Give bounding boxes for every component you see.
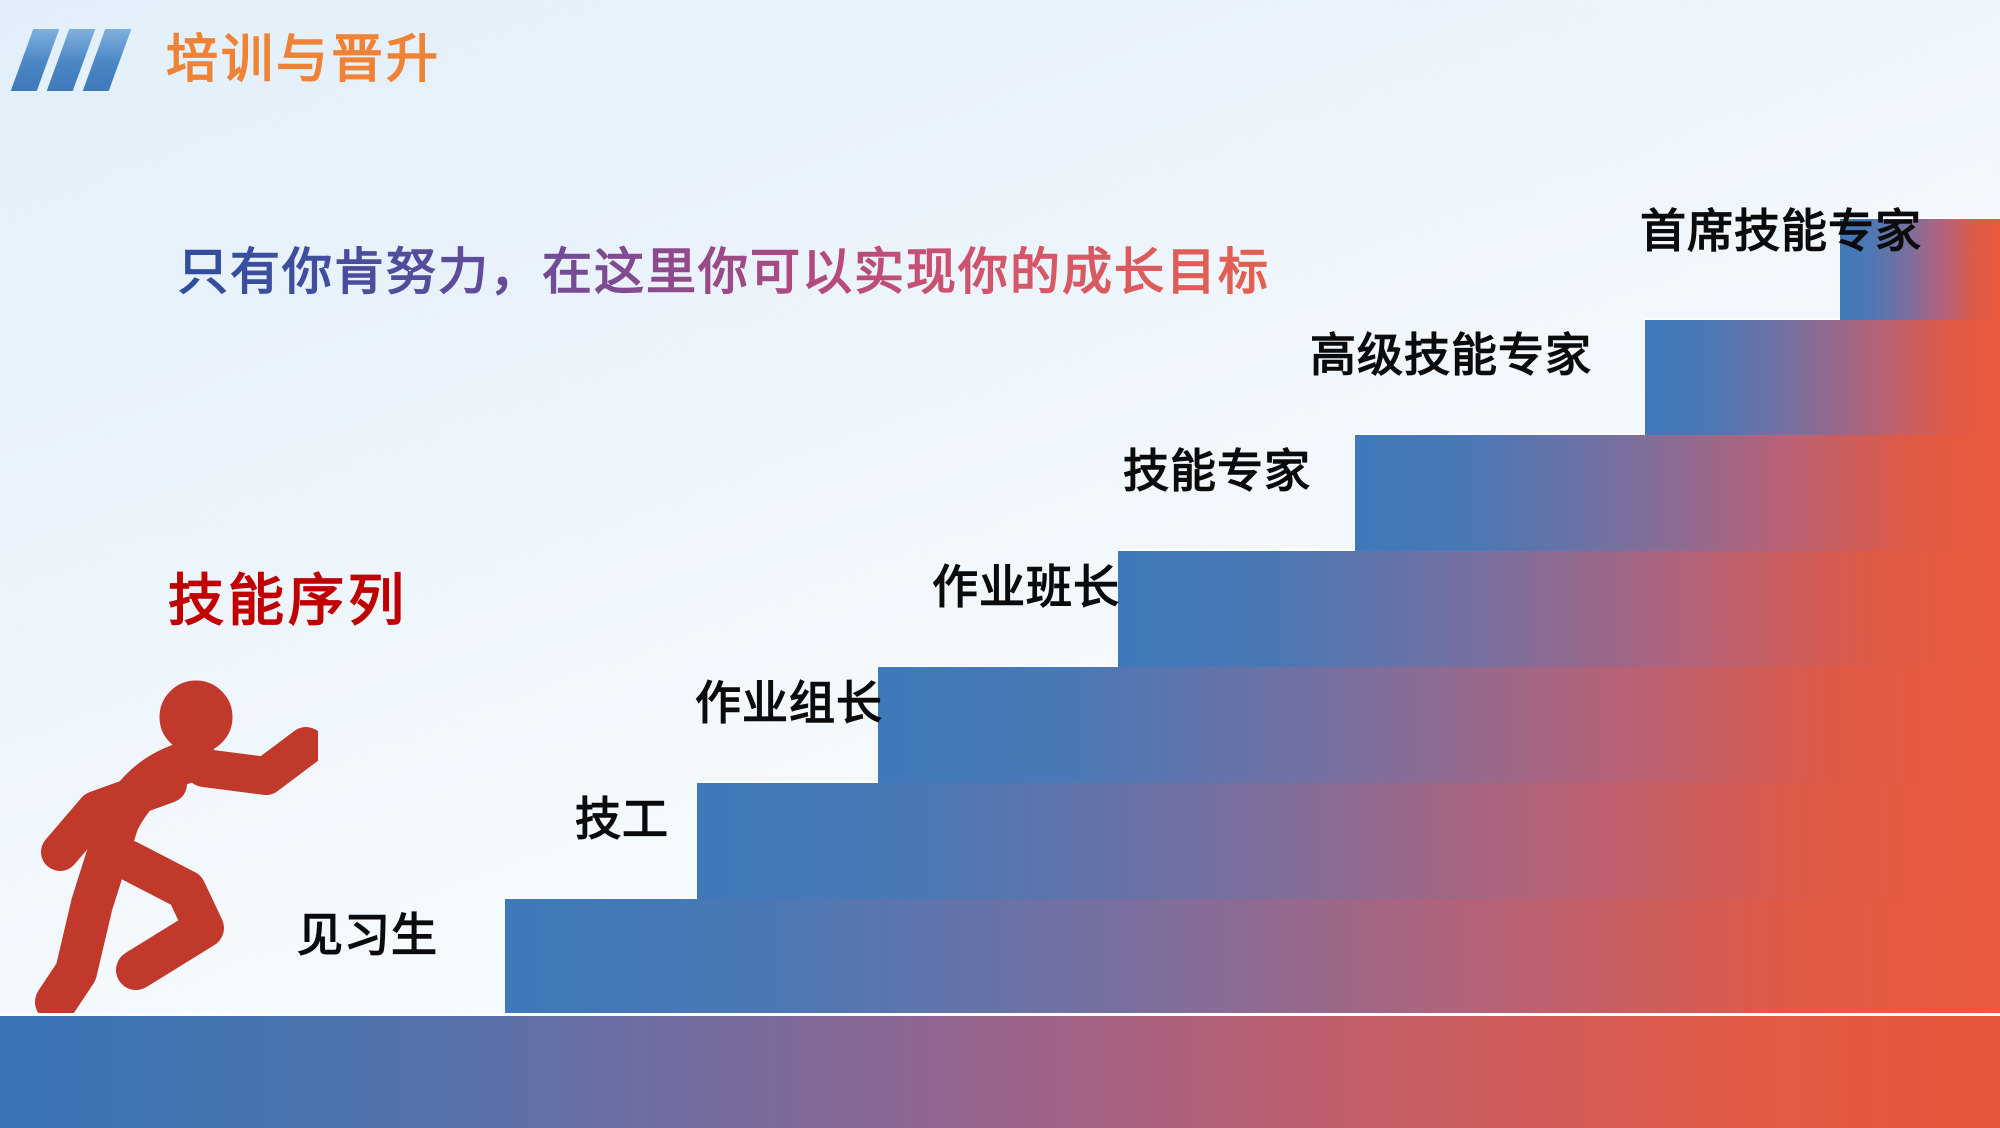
step-label-1: 见习生 bbox=[297, 899, 438, 965]
ladder-step[interactable] bbox=[1355, 433, 2000, 551]
step-label-2: 技工 bbox=[575, 783, 669, 849]
step-label-7: 首席技能专家 bbox=[1640, 195, 1922, 261]
ladder-step[interactable] bbox=[878, 665, 2000, 783]
ladder-step[interactable] bbox=[1118, 549, 2000, 667]
step-label-5: 技能专家 bbox=[1123, 435, 1311, 501]
step-label-6: 高级技能专家 bbox=[1310, 319, 1592, 385]
ladder-step[interactable] bbox=[1645, 318, 2000, 435]
career-ladder-chart: 见习生 技工 作业组长 作业班长 技能专家 高级技能专家 首席技能专家 bbox=[0, 0, 2000, 1125]
ground-bar bbox=[0, 1013, 2000, 1128]
ladder-step[interactable] bbox=[505, 897, 2000, 1015]
step-label-3: 作业组长 bbox=[695, 667, 883, 733]
ladder-step[interactable] bbox=[697, 781, 2000, 899]
step-label-4: 作业班长 bbox=[932, 551, 1120, 617]
